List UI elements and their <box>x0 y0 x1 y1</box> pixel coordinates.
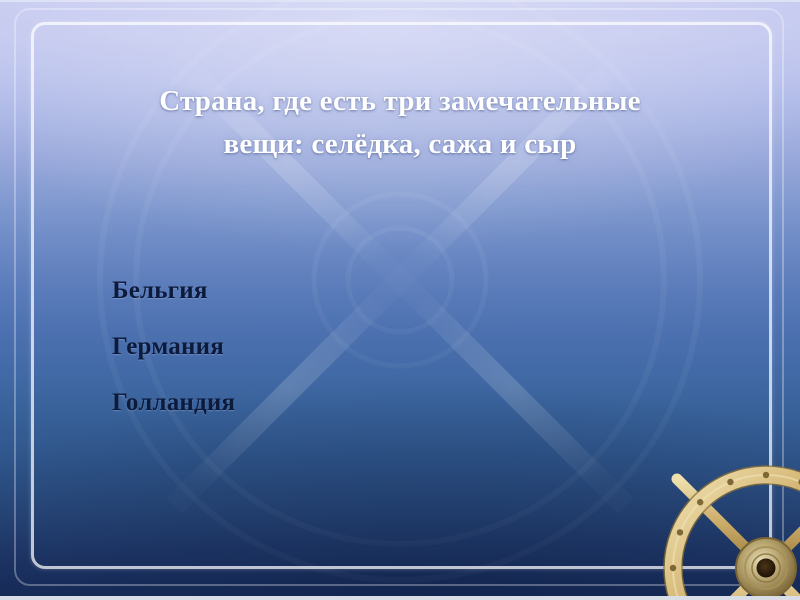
answer-option-2[interactable]: Германия <box>112 334 592 359</box>
slide-title-line-1: Страна, где есть три замечательные <box>159 85 641 117</box>
answer-option-1[interactable]: Бельгия <box>112 278 592 303</box>
bottom-edge-strip <box>0 596 800 600</box>
top-edge-strip <box>0 0 800 2</box>
slide-title-block: Страна, где есть три замечательныевещи: … <box>70 80 730 166</box>
ships-wheel-icon <box>648 448 800 600</box>
slide-title: Страна, где есть три замечательныевещи: … <box>70 80 730 166</box>
answer-options-list: Бельгия Германия Голландия <box>112 278 592 415</box>
answer-option-3[interactable]: Голландия <box>112 390 592 415</box>
slide-title-line-2: вещи: селёдка, сажа и сыр <box>224 128 577 160</box>
presentation-slide: Страна, где есть три замечательныевещи: … <box>0 0 800 600</box>
